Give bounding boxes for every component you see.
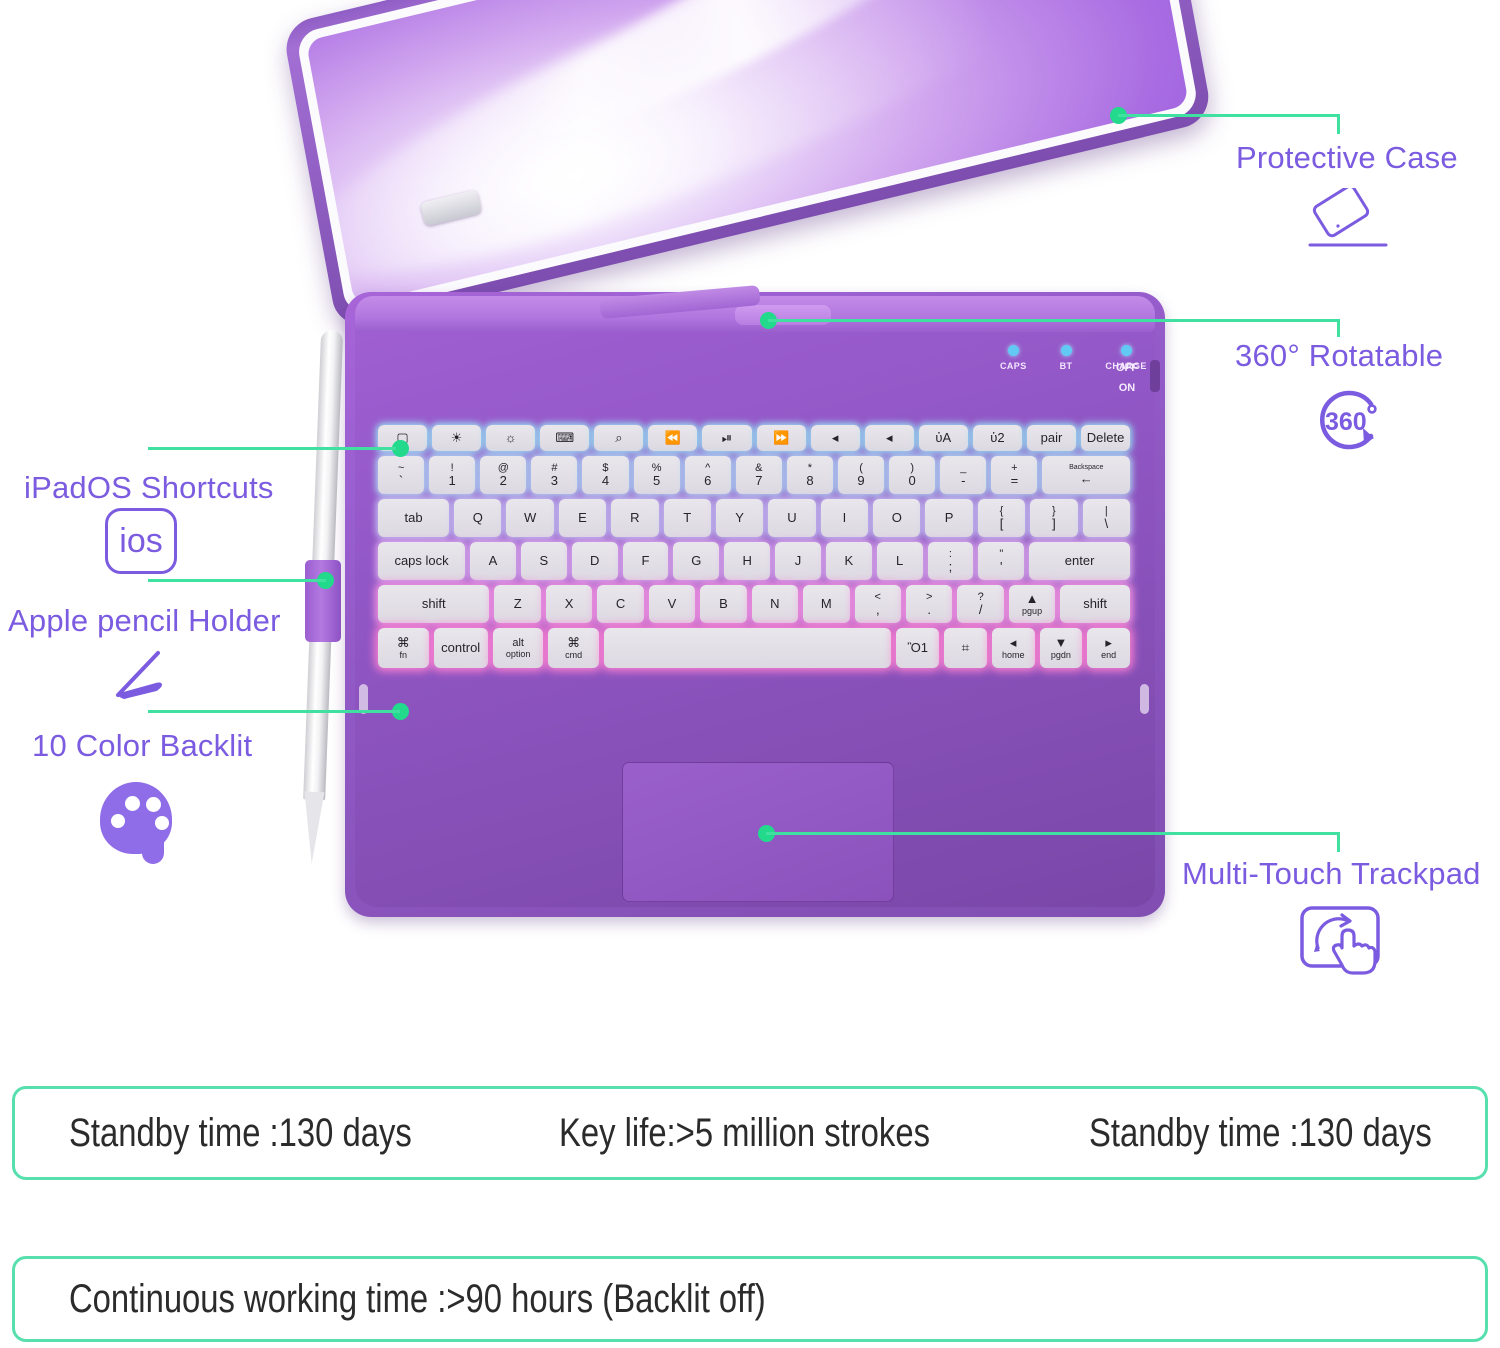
key-l-legend: L	[896, 554, 903, 568]
left-arrow-home-key-glyph: ◂	[1010, 636, 1017, 650]
key-a-legend: A	[489, 554, 498, 568]
control-key-legend: control	[441, 641, 480, 655]
fn-key[interactable]: ⌘fn	[378, 628, 429, 668]
quote-key-legend: '	[1000, 560, 1002, 574]
palette-dot-3	[146, 797, 161, 812]
key-p[interactable]: P	[925, 499, 972, 537]
key-f-legend: F	[642, 554, 650, 568]
led-label-caps: CAPS	[1000, 361, 1027, 371]
label-protective-case: Protective Case	[1236, 140, 1458, 176]
key-b[interactable]: B	[700, 585, 746, 623]
led-label-bt: BT	[1060, 361, 1073, 371]
shift-right-key-legend: shift	[1083, 597, 1107, 611]
key-7-legend: 7	[755, 474, 762, 488]
key-c-legend: C	[616, 597, 625, 611]
bracket-left-key[interactable]: {[	[978, 499, 1025, 537]
key-0-legend: 0	[909, 474, 916, 488]
pair-key-legend: pair	[1041, 431, 1063, 445]
spec-key-life: Key life:>5 million strokes	[559, 1111, 930, 1156]
play-pause-key[interactable]: ⏯	[702, 425, 751, 451]
backslash-key[interactable]: |\	[1083, 499, 1130, 537]
mute-key-glyph: ◂	[832, 431, 839, 445]
search-key[interactable]: ⌕	[594, 425, 643, 451]
key-w-legend: W	[524, 511, 536, 525]
pencil-tip	[302, 791, 325, 864]
enter-key[interactable]: enter	[1029, 542, 1130, 580]
command-key-sublegend: cmd	[565, 650, 582, 660]
keyboard-backlight-key[interactable]: ⌨	[540, 425, 589, 451]
key-z-legend: Z	[514, 597, 522, 611]
key-4-legend: 4	[602, 474, 609, 488]
tab-key-legend: tab	[404, 511, 422, 525]
minus-key-legend: -	[961, 474, 965, 488]
key-a[interactable]: A	[470, 542, 516, 580]
left-arrow-home-key[interactable]: ◂home	[992, 628, 1035, 668]
period-key[interactable]: >.	[906, 585, 952, 623]
spec-row-1: Standby time :130 days Key life:>5 milli…	[12, 1086, 1488, 1180]
bracket-right-key-legend: ]	[1052, 517, 1056, 531]
delete-key-legend: Delete	[1087, 431, 1125, 445]
rewind-key-glyph: ⏪	[665, 431, 681, 445]
key-6[interactable]: ^6	[685, 456, 731, 494]
spec-row-2: Continuous working time :>90 hours (Back…	[12, 1256, 1488, 1342]
key-s-legend: S	[539, 554, 548, 568]
key-f[interactable]: F	[623, 542, 669, 580]
alt-option-key-shift-legend: alt	[512, 637, 524, 649]
key-e[interactable]: E	[559, 499, 606, 537]
key-w[interactable]: W	[506, 499, 553, 537]
key-r[interactable]: R	[611, 499, 658, 537]
tablet-screen	[306, 0, 1189, 305]
key-0[interactable]: )0	[889, 456, 935, 494]
key-v-legend: V	[668, 597, 677, 611]
fast-forward-key[interactable]: ⏩	[757, 425, 806, 451]
z-row: shiftZXCVBNM<,>.?/▲pgupshift	[378, 585, 1130, 623]
svg-text:360: 360	[1325, 408, 1367, 436]
key-6-legend: 6	[704, 474, 711, 488]
slash-key-legend: /	[979, 603, 983, 617]
volume-up-key[interactable]: ὐA	[919, 425, 968, 451]
key-y[interactable]: Y	[716, 499, 763, 537]
leader-protective-case-stub	[1337, 114, 1340, 134]
bracket-right-key[interactable]: }]	[1030, 499, 1077, 537]
comma-key-legend: ,	[876, 603, 880, 617]
play-pause-key-glyph: ⏯	[722, 431, 732, 445]
rewind-key[interactable]: ⏪	[648, 425, 697, 451]
key-o-legend: O	[892, 511, 902, 525]
keyboard-backlight-key-glyph: ⌨	[555, 431, 574, 445]
case-slot-right	[1140, 684, 1149, 714]
key-k[interactable]: K	[826, 542, 872, 580]
led-caps: CAPS	[1000, 345, 1027, 371]
volume-up-key-glyph: ὐA	[935, 431, 951, 445]
palette-dot-2	[125, 796, 140, 811]
key-u[interactable]: U	[768, 499, 815, 537]
spec-standby-time-right: Standby time :130 days	[1089, 1111, 1432, 1156]
key-b-legend: B	[719, 597, 728, 611]
left-arrow-home-key-sublegend: home	[1002, 650, 1025, 660]
down-arrow-pgdn-key-sublegend: pgdn	[1051, 650, 1071, 660]
shift-right-key[interactable]: shift	[1060, 585, 1130, 623]
key-1[interactable]: !1	[429, 456, 475, 494]
key-h-legend: H	[742, 554, 751, 568]
key-m-legend: M	[821, 597, 832, 611]
key-i-legend: I	[843, 511, 847, 525]
leader-trackpad	[766, 832, 1340, 835]
label-ipados-shortcuts: iPadOS Shortcuts	[24, 470, 274, 506]
key-y-legend: Y	[735, 511, 744, 525]
brightness-up-key-glyph: ☼	[505, 431, 517, 445]
key-4[interactable]: $4	[582, 456, 628, 494]
led-dot-charge	[1121, 345, 1132, 356]
fn-key-sublegend: fn	[399, 650, 407, 660]
brightness-up-key[interactable]: ☼	[486, 425, 535, 451]
tablet-body	[282, 0, 1214, 331]
caps-lock-key[interactable]: caps lock	[378, 542, 465, 580]
key-j-legend: J	[795, 554, 802, 568]
volume-down-key-glyph: ◂	[886, 431, 893, 445]
key-t[interactable]: T	[664, 499, 711, 537]
key-8-legend: 8	[806, 474, 813, 488]
key-q-legend: Q	[473, 511, 483, 525]
bracket-left-key-legend: [	[1000, 517, 1004, 531]
screenshot-key[interactable]: ⌗	[944, 628, 987, 668]
key-d-legend: D	[590, 554, 599, 568]
down-arrow-pgdn-key[interactable]: ▼pgdn	[1040, 628, 1083, 668]
lock-key-glyph: ὑ2	[990, 431, 1004, 445]
key-p-legend: P	[945, 511, 954, 525]
label-color-backlit: 10 Color Backlit	[32, 728, 252, 764]
backspace-key[interactable]: Backspace←	[1042, 456, 1130, 494]
label-apple-pencil-holder: Apple pencil Holder	[8, 603, 281, 639]
period-key-legend: .	[927, 603, 931, 617]
a-row: caps lockASDFGHJKL:;"'enter	[378, 542, 1130, 580]
ios-badge-text: ios	[119, 522, 162, 561]
key-5-legend: 5	[653, 474, 660, 488]
key-m[interactable]: M	[803, 585, 849, 623]
shift-left-key[interactable]: shift	[378, 585, 489, 623]
volume-down-key[interactable]: ◂	[865, 425, 914, 451]
trackpad-hand-icon	[1296, 902, 1388, 983]
key-c[interactable]: C	[597, 585, 643, 623]
equals-key-legend: =	[1011, 474, 1019, 488]
tab-key[interactable]: tab	[378, 499, 449, 537]
key-d[interactable]: D	[572, 542, 618, 580]
quote-key[interactable]: "'	[978, 542, 1024, 580]
key-t-legend: T	[683, 511, 691, 525]
tilde-key[interactable]: ~`	[378, 456, 424, 494]
key-x-legend: X	[565, 597, 574, 611]
power-switch-labels[interactable]: OFF ON	[1116, 358, 1138, 398]
backslash-key-legend: \	[1104, 517, 1108, 531]
leader-trackpad-stub	[1337, 832, 1340, 852]
ios-badge-icon: ios	[105, 508, 177, 574]
key-v[interactable]: V	[649, 585, 695, 623]
pair-key[interactable]: pair	[1027, 425, 1076, 451]
semicolon-key-legend: ;	[949, 560, 953, 574]
fn-key-glyph: ⌘	[397, 636, 410, 650]
right-arrow-end-key-glyph: ▸	[1105, 636, 1112, 650]
right-arrow-end-key-sublegend: end	[1101, 650, 1116, 660]
key-g[interactable]: G	[673, 542, 719, 580]
key-e-legend: E	[578, 511, 587, 525]
key-2[interactable]: @2	[480, 456, 526, 494]
mute-key[interactable]: ◂	[811, 425, 860, 451]
tilde-key-legend: `	[399, 474, 403, 488]
360-rotate-icon: 360	[1308, 384, 1388, 463]
brightness-down-key[interactable]: ☀	[432, 425, 481, 451]
enter-key-legend: enter	[1065, 554, 1095, 568]
right-arrow-end-key[interactable]: ▸end	[1087, 628, 1130, 668]
key-q[interactable]: Q	[454, 499, 501, 537]
brightness-down-key-glyph: ☀	[451, 431, 463, 445]
spec-standby-time-left: Standby time :130 days	[69, 1111, 412, 1156]
spacebar-key[interactable]	[604, 628, 891, 668]
comma-key[interactable]: <,	[855, 585, 901, 623]
down-arrow-pgdn-key-glyph: ▼	[1054, 636, 1067, 650]
key-g-legend: G	[691, 554, 701, 568]
led-dot-bt	[1061, 345, 1072, 356]
key-i[interactable]: I	[821, 499, 868, 537]
key-o[interactable]: O	[873, 499, 920, 537]
key-n-legend: N	[770, 597, 779, 611]
key-j[interactable]: J	[775, 542, 821, 580]
leader-ipados	[148, 447, 396, 450]
alt-option-key[interactable]: altoption	[493, 628, 544, 668]
backlight-key-glyph: Ὂ1	[907, 641, 928, 655]
tablet-bezel	[295, 0, 1199, 316]
space-row: ⌘fncontrolaltoption⌘cmdὊ1⌗◂home▼pgdn▸end	[378, 628, 1130, 668]
palette-dot-4	[155, 816, 169, 830]
key-7[interactable]: &7	[736, 456, 782, 494]
up-arrow-pgup-key-glyph: ▲	[1026, 592, 1039, 606]
power-off-label: OFF	[1116, 358, 1138, 378]
leader-backlit	[148, 710, 400, 713]
equals-key[interactable]: +=	[991, 456, 1037, 494]
command-key-glyph: ⌘	[567, 636, 580, 650]
alt-option-key-sublegend: option	[506, 649, 531, 659]
up-arrow-pgup-key[interactable]: ▲pgup	[1009, 585, 1055, 623]
up-arrow-pgup-key-sublegend: pgup	[1022, 606, 1042, 616]
led-bt: BT	[1060, 345, 1073, 371]
key-k-legend: K	[844, 554, 853, 568]
shift-left-key-legend: shift	[422, 597, 446, 611]
power-on-label: ON	[1116, 378, 1138, 398]
led-dot-caps	[1008, 345, 1019, 356]
key-3-legend: 3	[551, 474, 558, 488]
tablet-case-icon	[1302, 188, 1394, 263]
function-row: ▢☀☼⌨⌕⏪⏯⏩◂◂ὐAὑ2pairDelete	[378, 425, 1130, 451]
leader-pencil	[148, 579, 326, 582]
leader-protective-case	[1118, 114, 1340, 117]
keyboard-deck[interactable]: ▢☀☼⌨⌕⏪⏯⏩◂◂ὐAὑ2pairDelete~`!1@2#3$4%5^6&7…	[378, 425, 1130, 738]
power-switch-slot[interactable]	[1150, 360, 1160, 392]
key-8[interactable]: *8	[787, 456, 833, 494]
minus-key[interactable]: _-	[940, 456, 986, 494]
backlight-key[interactable]: Ὂ1	[896, 628, 939, 668]
q-row: tabQWERTYUIOP{[}]|\	[378, 499, 1130, 537]
spec-continuous-working-time: Continuous working time :>90 hours (Back…	[69, 1277, 766, 1322]
key-x[interactable]: X	[546, 585, 592, 623]
leader-rotatable-stub	[1337, 319, 1340, 337]
key-h[interactable]: H	[724, 542, 770, 580]
key-2-legend: 2	[500, 474, 507, 488]
label-multi-touch-trackpad: Multi-Touch Trackpad	[1182, 856, 1481, 892]
leader-rotatable	[768, 319, 1340, 322]
caps-lock-key-legend: caps lock	[394, 554, 448, 568]
key-n[interactable]: N	[752, 585, 798, 623]
key-z[interactable]: Z	[494, 585, 540, 623]
backspace-key-glyph: ←	[1080, 472, 1093, 486]
key-u-legend: U	[787, 511, 796, 525]
palette-dot-1	[111, 814, 125, 828]
slash-key[interactable]: ?/	[957, 585, 1003, 623]
key-l[interactable]: L	[877, 542, 923, 580]
key-s[interactable]: S	[521, 542, 567, 580]
hinge-notch	[735, 305, 831, 325]
key-3[interactable]: #3	[531, 456, 577, 494]
command-key[interactable]: ⌘cmd	[548, 628, 599, 668]
pencil-icon	[108, 645, 178, 710]
semicolon-key[interactable]: :;	[928, 542, 974, 580]
product-infographic: CAPS BT CHARGE OFF ON ▢☀☼⌨⌕⏪⏯⏩◂◂ὐAὑ2pair…	[0, 0, 1500, 1348]
control-key[interactable]: control	[434, 628, 488, 668]
key-9-legend: 9	[857, 474, 864, 488]
key-9[interactable]: (9	[838, 456, 884, 494]
label-rotatable: 360° Rotatable	[1235, 338, 1443, 374]
key-5[interactable]: %5	[634, 456, 680, 494]
number-row: ~`!1@2#3$4%5^6&7*8(9)0_-+=Backspace←	[378, 456, 1130, 494]
key-r-legend: R	[630, 511, 639, 525]
search-key-glyph: ⌕	[615, 431, 622, 445]
key-1-legend: 1	[449, 474, 456, 488]
palette-icon	[100, 782, 172, 854]
screenshot-key-glyph: ⌗	[962, 641, 969, 655]
lock-key[interactable]: ὑ2	[973, 425, 1022, 451]
fast-forward-key-glyph: ⏩	[773, 431, 789, 445]
delete-key[interactable]: Delete	[1081, 425, 1130, 451]
